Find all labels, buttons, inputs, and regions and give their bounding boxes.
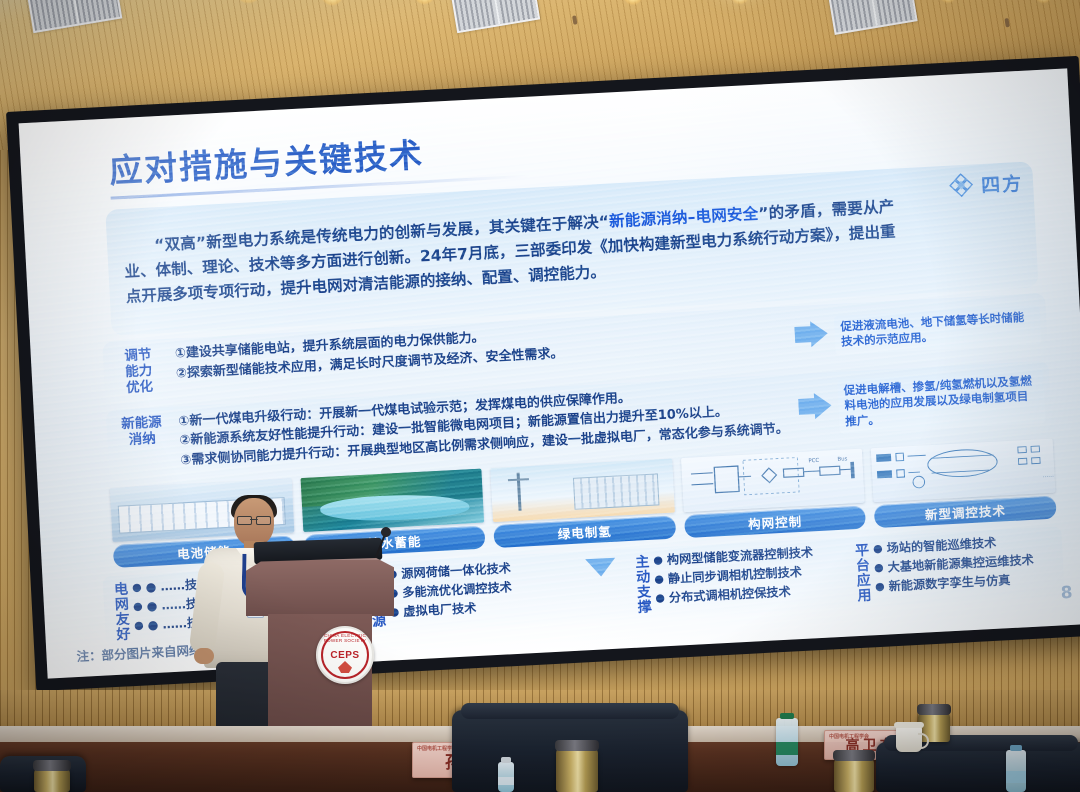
speaker-glasses — [237, 516, 271, 523]
podium-top — [246, 558, 394, 616]
sifang-diamond-logo-icon — [946, 170, 975, 199]
sifang-logo: 四方 — [946, 168, 1023, 200]
action-note-text: 促进液流电池、地下储氢等长时储能技术的示范应用。 — [834, 305, 1042, 355]
podium-emblem-text: CEPS — [330, 650, 359, 661]
sifang-logo-text: 四方 — [980, 168, 1023, 197]
water-bottle — [498, 762, 514, 792]
lead-highlight: 新能源消纳–电网安全 — [608, 204, 758, 230]
row-label-adjustment: 调节 能力 优化 — [109, 345, 170, 398]
thermos-flask — [834, 758, 874, 792]
row-label-line: 优化 — [110, 379, 169, 398]
right-arrow-icon — [794, 320, 830, 352]
slide-footnote: 注：部分图片来自网络 — [76, 640, 202, 666]
pumped-hydro-image — [300, 468, 484, 531]
svg-text:……: …… — [1043, 472, 1055, 479]
podium-emblem-arc: CHINA ELECTRIC POWER SOCIETY — [318, 633, 372, 643]
thermos-flask — [556, 748, 598, 792]
thermos-flask — [34, 768, 70, 792]
tea-mug — [896, 726, 922, 752]
tech-column-platform-application: 平台应用 ●场站的智能巡维技术 ●大基地新能源集控运维技术 ●新能源数字孪生与仿… — [846, 530, 1063, 603]
projection-screen: 应对措施与关键技术 — [6, 56, 1080, 691]
row-label-line: 消纳 — [113, 431, 172, 450]
speaker-left-hand — [194, 648, 214, 664]
thumbnail-green-hydrogen: 绿电制氢 — [490, 458, 676, 547]
green-hydrogen-image — [490, 458, 674, 521]
slide-page-number: 8 — [1060, 583, 1073, 604]
tech-bullet-text: 虚拟电厂技术 — [403, 599, 477, 622]
tech-column-label: 主动支撑 — [626, 552, 651, 615]
conference-photo-scene: 应对措施与关键技术 — [0, 0, 1080, 792]
svg-text:Bus: Bus — [837, 456, 847, 463]
down-arrow-icon — [580, 553, 623, 617]
action-note-text: 促进电解槽、掺氢/纯氢燃机以及氢燃料电池的应用发展以及绿电制氢项目推广。 — [837, 369, 1046, 434]
thumbnail-new-dispatch: …… 新型调控技术 — [871, 438, 1057, 527]
row-label-renewable: 新能源 消纳 — [112, 413, 172, 450]
right-arrow-icon — [798, 392, 834, 424]
water-bottle — [1006, 750, 1026, 792]
svg-text:PCC: PCC — [808, 458, 819, 465]
tech-column-active-support: 主动支撑 ●构网型储能变流器控制技术 ●静止同步调相机控制技术 ●分布式调相机控… — [626, 542, 843, 615]
lead-part2: ”的矛盾，需要从产业、体制、理论、技术等多方面进行创新。24年7月底，三部委印发… — [124, 197, 896, 306]
new-dispatch-diagram-image: …… — [871, 438, 1055, 501]
podium-emblem: CHINA ELECTRIC POWER SOCIETY CEPS — [316, 626, 374, 684]
thumbnail-grid-forming: PCC Bus 构网控制 — [681, 448, 867, 537]
water-bottle — [776, 718, 798, 766]
tech-column-label: 平台应用 — [846, 540, 871, 603]
tech-column-label: 电网友好 — [105, 579, 130, 642]
grid-forming-diagram-image: PCC Bus — [681, 448, 865, 511]
lead-paragraph: “双高”新型电力系统是传统电力的创新与发展，其关键在于解决“新能源消纳–电网安全… — [123, 194, 898, 310]
presentation-slide: 应对措施与关键技术 — [19, 68, 1080, 678]
action-note-adjustment: 促进液流电池、地下储氢等长时储能技术的示范应用。 — [793, 294, 1042, 369]
action-note-renewable: 促进电解槽、掺氢/纯氢燃机以及氢燃料电池的应用发展以及绿电制氢项目推广。 — [797, 361, 1046, 443]
